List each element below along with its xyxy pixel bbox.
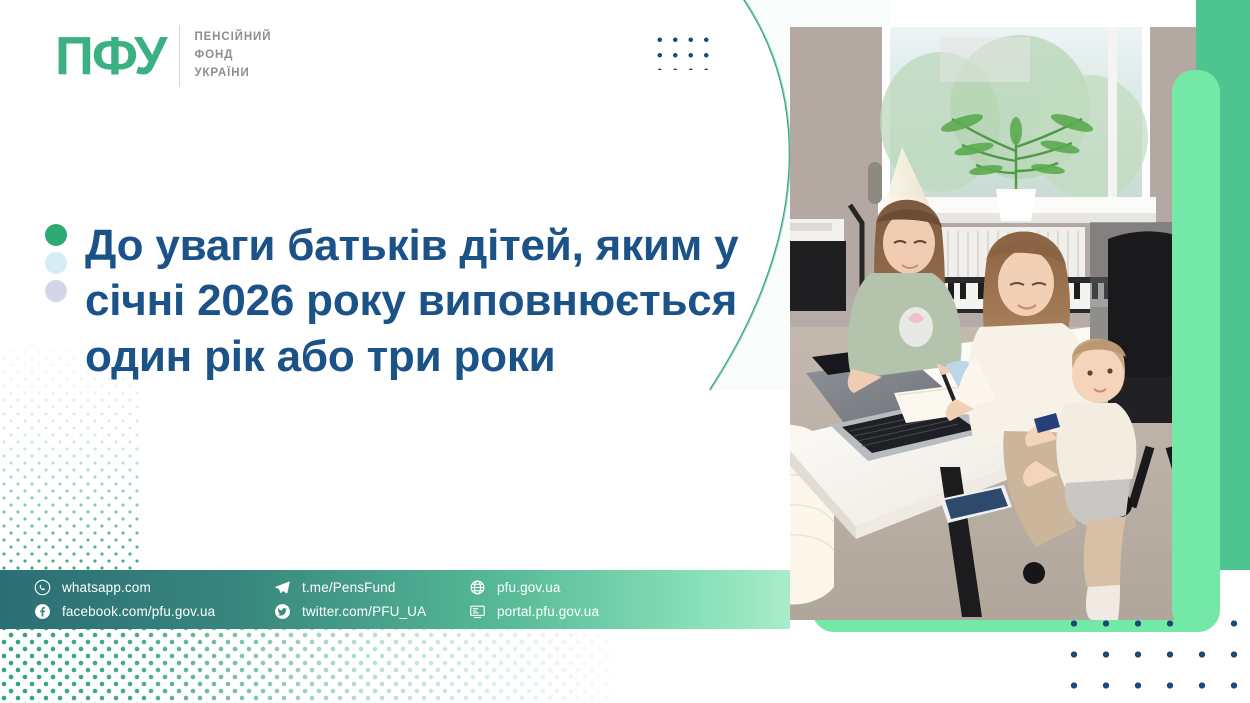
footer-link-twitter[interactable]: twitter.com/PFU_UA: [274, 603, 469, 620]
footer-link-label: t.me/PensFund: [302, 580, 396, 595]
accent-dot-green: [45, 224, 67, 246]
whatsapp-icon: [34, 579, 51, 596]
page-title: До уваги батьків дітей, яким у січні 202…: [85, 218, 785, 384]
footer-column-messengers: t.me/PensFund twitter.com/PFU_UA: [274, 579, 469, 620]
decorative-panel-light-strip: [1172, 70, 1220, 632]
footer-link-label: facebook.com/pfu.gov.ua: [62, 604, 215, 619]
twitter-icon: [274, 603, 291, 620]
accent-dot-lavender: [45, 280, 67, 302]
footer-link-facebook[interactable]: facebook.com/pfu.gov.ua: [34, 603, 274, 620]
telegram-icon: [274, 579, 291, 596]
decorative-dot-grid-top: [652, 32, 714, 70]
hero-photo: [790, 27, 1196, 620]
footer-link-whatsapp[interactable]: whatsapp.com: [34, 579, 274, 596]
poster-canvas: ПФУ ПЕНСІЙНИЙ ФОНД УКРАЇНИ До уваги бать…: [0, 0, 1250, 703]
accent-dot-blue: [45, 252, 67, 274]
globe-icon: [469, 579, 486, 596]
footer-link-label: whatsapp.com: [62, 580, 151, 595]
footer-column-websites: pfu.gov.ua portal.pfu.gov.ua: [469, 579, 669, 620]
logo-divider: [179, 25, 180, 87]
footer-link-portal[interactable]: portal.pfu.gov.ua: [469, 603, 669, 620]
logo-name-line-1: ПЕНСІЙНИЙ: [194, 29, 271, 47]
footer-link-website[interactable]: pfu.gov.ua: [469, 579, 669, 596]
portal-icon: [469, 603, 486, 620]
footer-column-social: whatsapp.com facebook.com/pfu.gov.ua: [34, 579, 274, 620]
footer-link-telegram[interactable]: t.me/PensFund: [274, 579, 469, 596]
footer-link-label: pfu.gov.ua: [497, 580, 561, 595]
headline-block: До уваги батьків дітей, яким у січні 202…: [45, 218, 785, 384]
logo-organisation-name: ПЕНСІЙНИЙ ФОНД УКРАЇНИ: [194, 29, 271, 82]
footer-contact-bar: whatsapp.com facebook.com/pfu.gov.ua: [0, 570, 790, 629]
logo-mark-text: ПФУ: [55, 29, 165, 83]
footer-link-label: portal.pfu.gov.ua: [497, 604, 599, 619]
accent-dot-column: [45, 218, 67, 384]
pfu-logo: ПФУ ПЕНСІЙНИЙ ФОНД УКРАЇНИ: [55, 25, 271, 87]
logo-name-line-2: ФОНД: [194, 47, 271, 65]
footer-link-label: twitter.com/PFU_UA: [302, 604, 426, 619]
decorative-halftone-bottom: [0, 628, 630, 703]
logo-name-line-3: УКРАЇНИ: [194, 65, 271, 83]
facebook-icon: [34, 603, 51, 620]
decorative-dot-grid-bottom: [1058, 608, 1250, 703]
